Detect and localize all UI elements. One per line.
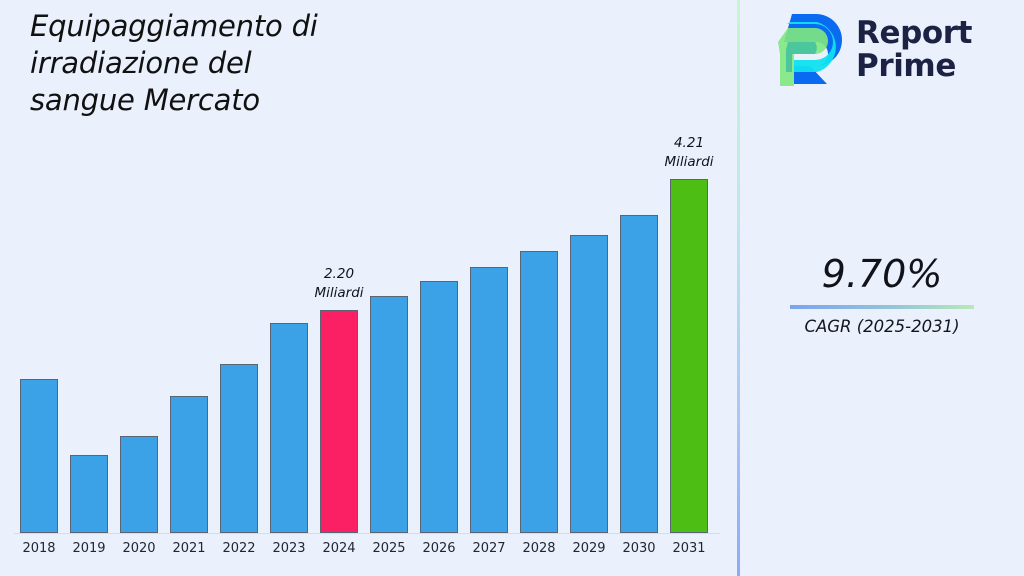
bar-2030[interactable] bbox=[620, 215, 658, 533]
chart-panel: Equipaggiamento di irradiazione del sang… bbox=[0, 0, 737, 576]
bar-2028[interactable] bbox=[520, 251, 558, 533]
bar-2029[interactable] bbox=[570, 235, 608, 533]
report-prime-r-logo-icon bbox=[770, 10, 844, 90]
cagr-label: CAGR (2025-2031) bbox=[740, 317, 1024, 336]
bar-2023[interactable] bbox=[270, 323, 308, 533]
cagr-divider bbox=[790, 305, 974, 309]
bar-2018[interactable] bbox=[20, 379, 58, 533]
bar-2027[interactable] bbox=[470, 267, 508, 533]
x-tick-2031: 2031 bbox=[659, 541, 719, 556]
bar-2021[interactable] bbox=[170, 396, 208, 533]
cagr-block: 9.70% CAGR (2025-2031) bbox=[740, 255, 1024, 336]
bar-2031[interactable] bbox=[670, 179, 708, 533]
bar-2019[interactable] bbox=[70, 455, 108, 533]
bar-2022[interactable] bbox=[220, 364, 258, 533]
brand-logo: Report Prime bbox=[770, 10, 972, 90]
bar-2026[interactable] bbox=[420, 281, 458, 533]
brand-name: Report Prime bbox=[856, 17, 972, 84]
bar-2020[interactable] bbox=[120, 436, 158, 533]
x-axis-line bbox=[14, 533, 720, 534]
brand-panel: Report Prime 9.70% CAGR (2025-2031) bbox=[740, 0, 1024, 576]
bar-2025[interactable] bbox=[370, 296, 408, 533]
cagr-value: 9.70% bbox=[740, 255, 1024, 295]
bar-value-label-2031: 4.21 Miliardi bbox=[629, 134, 749, 173]
bar-2024[interactable] bbox=[320, 310, 358, 533]
bar-chart: 2018201920202021202220232.20 Miliardi202… bbox=[0, 0, 737, 576]
report-slide: Equipaggiamento di irradiazione del sang… bbox=[0, 0, 1024, 576]
